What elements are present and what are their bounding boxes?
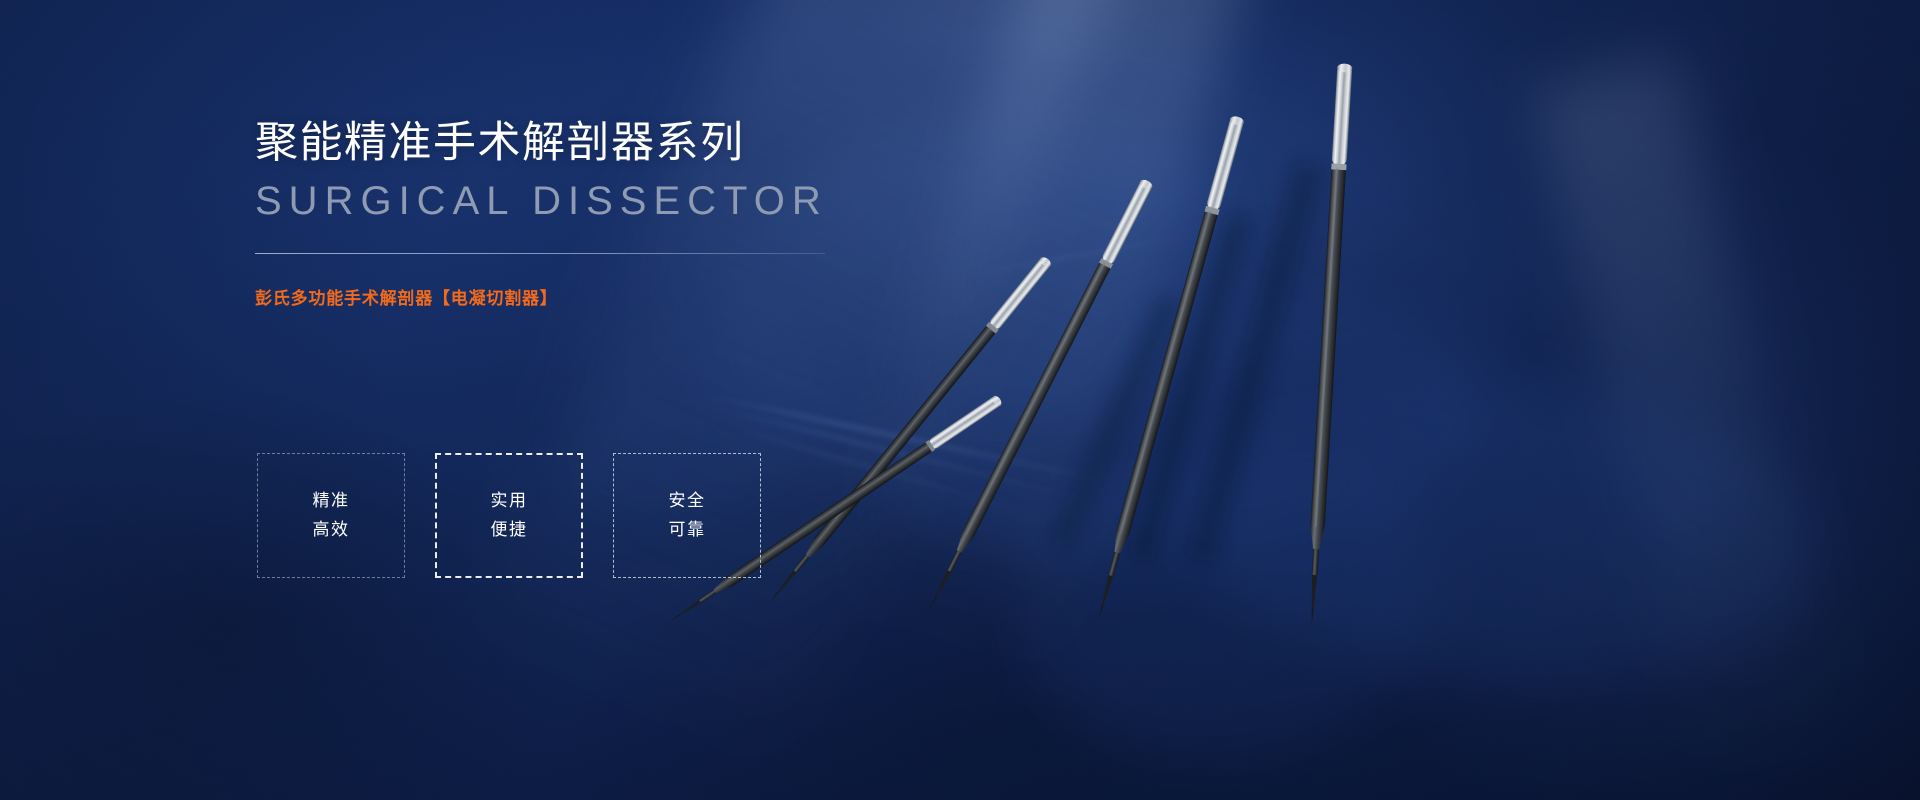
feature-badge-1-line1: 精准 xyxy=(313,487,350,515)
feature-badge-list: 精准 高效 实用 便捷 安全 可靠 xyxy=(257,453,761,578)
hero-banner: 聚能精准手术解剖器系列 SURGICAL DISSECTOR 彭氏多功能手术解剖… xyxy=(0,0,1920,800)
product-name-label: 彭氏多功能手术解剖器【电凝切割器】 xyxy=(255,284,895,309)
feature-badge-2: 实用 便捷 xyxy=(435,453,583,578)
feature-badge-1-line2: 高效 xyxy=(313,516,350,544)
feature-badge-3-line1: 安全 xyxy=(669,487,706,515)
page-title: 聚能精准手术解剖器系列 xyxy=(255,118,895,169)
divider xyxy=(255,253,825,254)
feature-badge-1: 精准 高效 xyxy=(257,453,405,578)
feature-badge-2-line1: 实用 xyxy=(491,487,528,515)
feature-badge-2-line2: 便捷 xyxy=(491,516,528,544)
feature-badge-3: 安全 可靠 xyxy=(613,453,761,578)
hero-text-block: 聚能精准手术解剖器系列 SURGICAL DISSECTOR 彭氏多功能手术解剖… xyxy=(255,118,895,309)
feature-badge-3-line2: 可靠 xyxy=(669,516,706,544)
page-subtitle-en: SURGICAL DISSECTOR xyxy=(255,179,895,223)
